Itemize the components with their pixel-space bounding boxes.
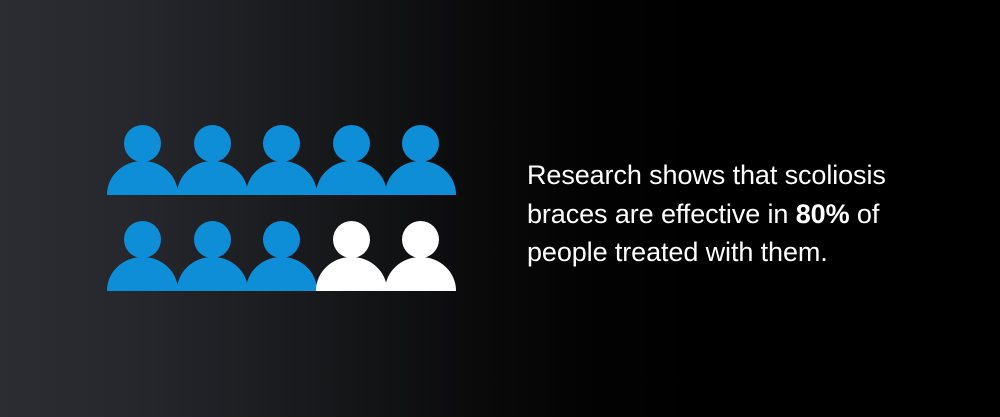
person-head bbox=[402, 221, 439, 258]
person-icon bbox=[316, 125, 387, 195]
person-body bbox=[385, 257, 456, 291]
person-body bbox=[246, 161, 317, 195]
person-body bbox=[316, 161, 387, 195]
person-body bbox=[107, 161, 178, 195]
person-head bbox=[402, 125, 439, 162]
person-body bbox=[177, 161, 248, 195]
person-head bbox=[333, 125, 370, 162]
person-icon bbox=[385, 221, 456, 291]
person-icon bbox=[316, 221, 387, 291]
caption-line-1: Research shows that scoliosis bbox=[527, 156, 927, 195]
person-head bbox=[194, 221, 231, 258]
person-icon bbox=[107, 125, 178, 195]
highlight-percentage: 80% bbox=[796, 199, 850, 229]
person-body bbox=[316, 257, 387, 291]
person-head bbox=[124, 221, 161, 258]
caption-line-3: people treated with them. bbox=[527, 233, 927, 272]
person-head bbox=[263, 125, 300, 162]
caption-line-2-suffix: of bbox=[850, 199, 880, 229]
person-head bbox=[124, 125, 161, 162]
person-icon bbox=[385, 125, 456, 195]
pictogram-row bbox=[107, 221, 455, 291]
pictogram-chart bbox=[107, 125, 455, 291]
caption-text: Research shows that scoliosis braces are… bbox=[527, 156, 927, 272]
person-icon bbox=[246, 125, 317, 195]
person-icon bbox=[177, 221, 248, 291]
pictogram-row bbox=[107, 125, 455, 195]
person-body bbox=[177, 257, 248, 291]
person-body bbox=[385, 161, 456, 195]
person-body bbox=[107, 257, 178, 291]
person-icon bbox=[246, 221, 317, 291]
person-body bbox=[246, 257, 317, 291]
person-icon bbox=[177, 125, 248, 195]
person-head bbox=[194, 125, 231, 162]
person-head bbox=[333, 221, 370, 258]
caption-line-2: braces are effective in 80% of bbox=[527, 195, 927, 234]
person-icon bbox=[107, 221, 178, 291]
person-head bbox=[263, 221, 300, 258]
caption-line-2-prefix: braces are effective in bbox=[527, 199, 796, 229]
infographic-canvas: Research shows that scoliosis braces are… bbox=[0, 0, 1000, 417]
